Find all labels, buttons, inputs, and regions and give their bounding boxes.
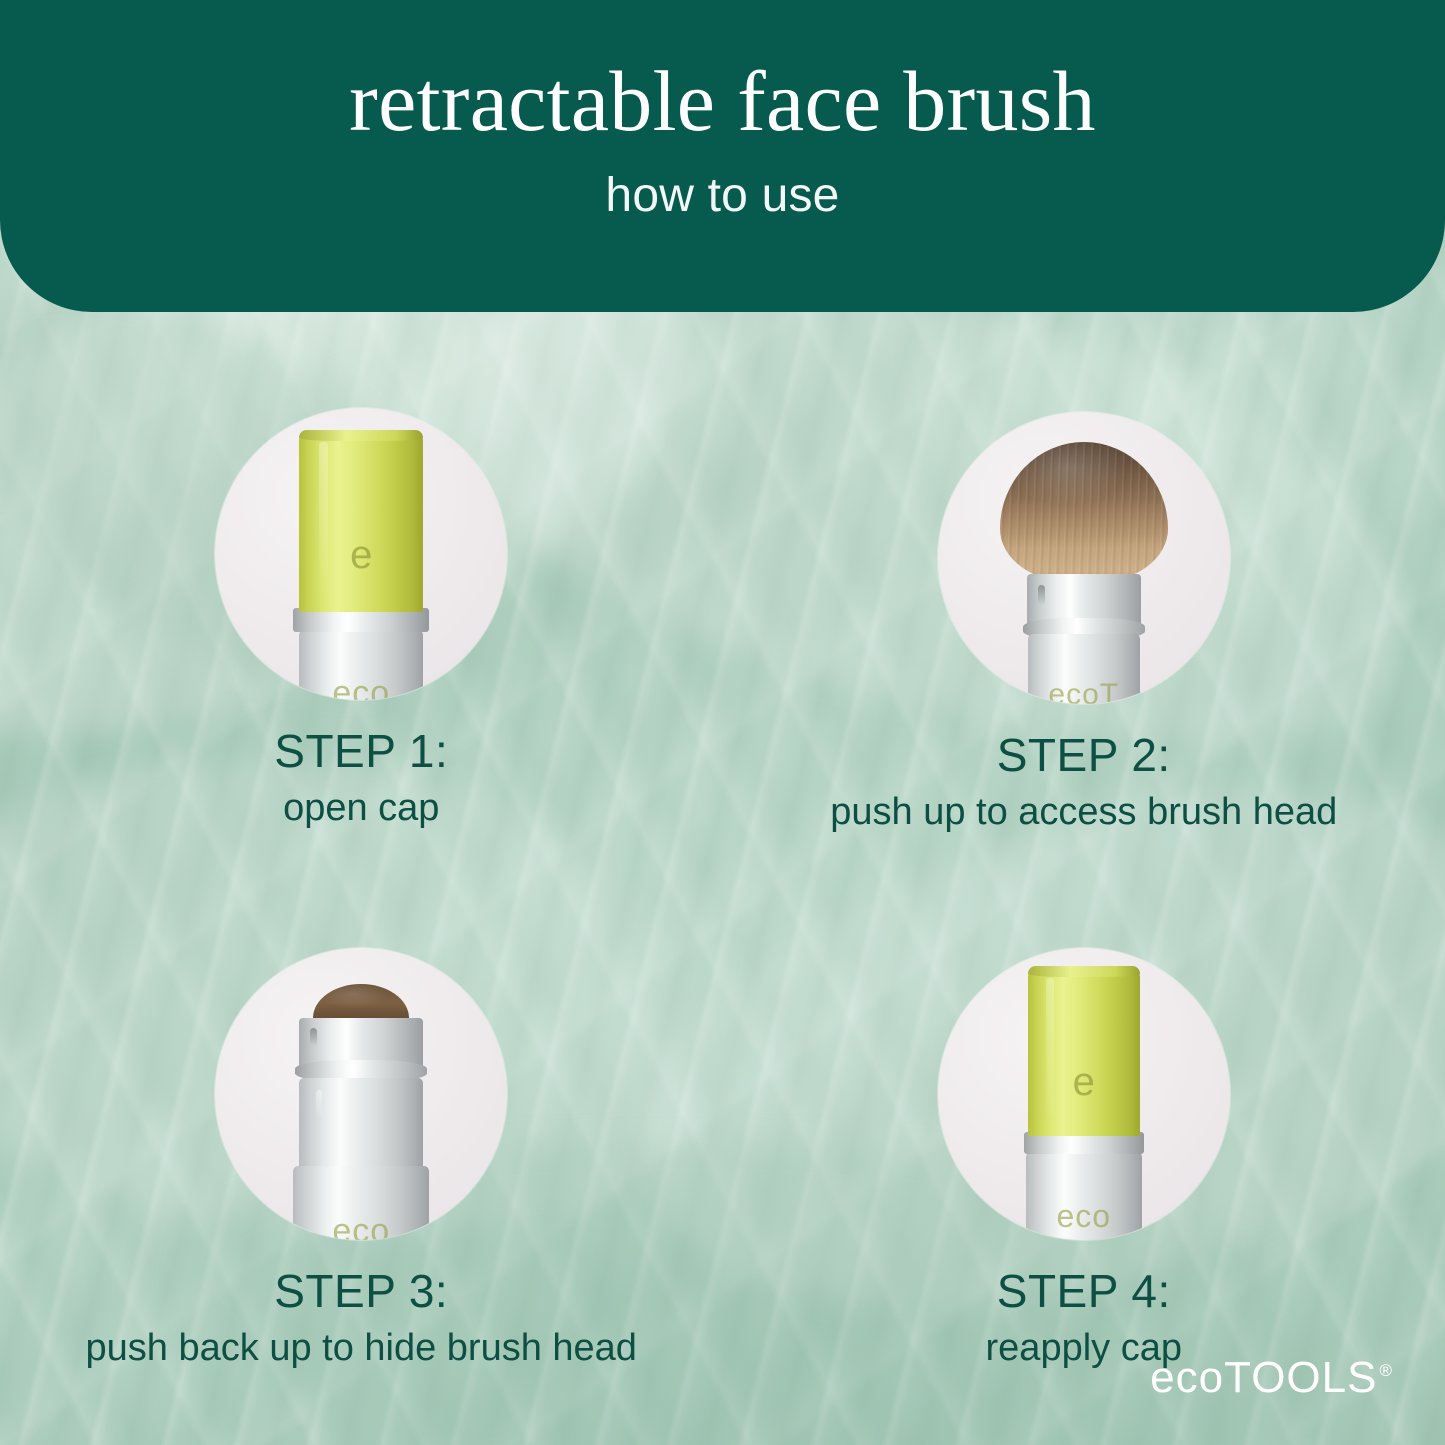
brush-fibers <box>1000 442 1168 582</box>
step-item-1: eco e STEP 1: open cap <box>0 312 723 842</box>
brand-logo: ecoTOOLS® <box>1150 1353 1393 1403</box>
cap-top-highlight <box>299 430 423 441</box>
product-brush-retracted: eco <box>215 948 507 1240</box>
step-2-image-circle: ecoT <box>938 412 1230 704</box>
step-3-caption: STEP 3: push back up to hide brush head <box>86 1266 637 1371</box>
product-brush-extended: ecoT <box>938 412 1230 704</box>
header-banner: retractable face brush how to use <box>0 0 1445 312</box>
step-3-label: STEP 3: <box>86 1266 637 1318</box>
page-subtitle: how to use <box>605 168 839 223</box>
infographic-canvas: retractable face brush how to use eco e <box>0 0 1445 1445</box>
step-1-image-circle: eco e <box>215 408 507 700</box>
cap-e-logo: e <box>299 535 423 575</box>
barrel-eco-logo: eco <box>938 1200 1230 1232</box>
step-2-caption: STEP 2: push up to access brush head <box>830 730 1337 835</box>
step-3-description: push back up to hide brush head <box>86 1326 637 1372</box>
steps-grid: eco e STEP 1: open cap <box>0 312 1445 1372</box>
product-capped-brush-reapplied: eco e <box>938 948 1230 1240</box>
step-4-image-circle: eco e <box>938 948 1230 1240</box>
cap: e <box>1028 966 1140 1136</box>
barrel-shine <box>316 1090 322 1116</box>
barrel-eco-logo: eco <box>215 676 507 700</box>
step-2-description: push up to access brush head <box>830 790 1337 836</box>
step-1-description: open cap <box>274 786 448 832</box>
step-2-label: STEP 2: <box>830 730 1337 782</box>
step-item-4: eco e STEP 4: reapply cap <box>723 842 1445 1372</box>
step-1-caption: STEP 1: open cap <box>274 726 448 831</box>
page-title: retractable face brush <box>349 58 1096 146</box>
cap-shine <box>1046 978 1054 1118</box>
ferrule-notch <box>1038 585 1045 605</box>
cap-top-highlight <box>1028 966 1140 977</box>
step-item-3: eco STEP 3: push back up to hide brush h… <box>0 842 723 1372</box>
ferrule-notch <box>310 1028 317 1046</box>
registered-trademark-icon: ® <box>1379 1361 1393 1380</box>
cap: e <box>299 430 423 612</box>
step-1-label: STEP 1: <box>274 726 448 778</box>
brush-head <box>1000 442 1168 582</box>
step-4-label: STEP 4: <box>986 1266 1182 1318</box>
product-capped-brush: eco e <box>215 408 507 700</box>
step-3-image-circle: eco <box>215 948 507 1240</box>
barrel-eco-logo: eco <box>215 1214 507 1240</box>
barrel-eco-logo: ecoT <box>938 680 1230 704</box>
cap-shine <box>319 442 328 592</box>
cap-e-logo: e <box>1028 1062 1140 1102</box>
step-item-2: ecoT STEP 2: push up to access brush hea… <box>723 312 1445 842</box>
brand-name: ecoTOOLS <box>1150 1353 1377 1402</box>
